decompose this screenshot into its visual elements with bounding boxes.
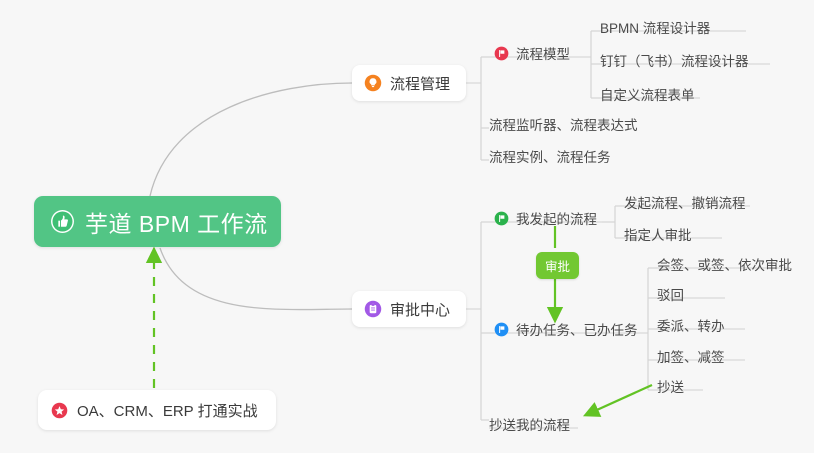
node-start-cancel-process[interactable]: 发起流程、撤销流程 bbox=[624, 192, 746, 212]
node-custom-process-form-label: 自定义流程表单 bbox=[600, 84, 695, 104]
root-label: 芋道 BPM 工作流 bbox=[85, 205, 268, 239]
node-assignee-approval[interactable]: 指定人审批 bbox=[624, 224, 692, 244]
arrow-cc-to-mine bbox=[588, 385, 652, 414]
lightbulb-pin-icon bbox=[364, 74, 382, 92]
node-reject-label: 驳回 bbox=[657, 284, 684, 304]
flag-red-icon bbox=[494, 46, 509, 61]
footer-card-label: OA、CRM、ERP 打通实战 bbox=[77, 400, 258, 421]
node-cc-to-me-label: 抄送我的流程 bbox=[489, 414, 570, 434]
node-my-initiated[interactable]: 我发起的流程 bbox=[494, 208, 597, 228]
node-bpmn-designer-label: BPMN 流程设计器 bbox=[600, 17, 710, 37]
approval-annotation-chip: 审批 bbox=[536, 252, 579, 279]
thumbs-up-icon bbox=[50, 209, 75, 234]
branch-process-management[interactable]: 流程管理 bbox=[352, 65, 466, 101]
clipboard-purple-icon bbox=[364, 300, 382, 318]
node-todo-done-tasks-label: 待办任务、已办任务 bbox=[516, 319, 638, 339]
node-custom-process-form[interactable]: 自定义流程表单 bbox=[600, 84, 695, 104]
node-countersign[interactable]: 会签、或签、依次审批 bbox=[657, 254, 792, 274]
node-reject[interactable]: 驳回 bbox=[657, 284, 684, 304]
node-add-remove-sign[interactable]: 加签、减签 bbox=[657, 346, 725, 366]
node-countersign-label: 会签、或签、依次审批 bbox=[657, 254, 792, 274]
node-dingtalk-feishu-designer[interactable]: 钉钉（飞书）流程设计器 bbox=[600, 50, 749, 70]
node-process-model[interactable]: 流程模型 bbox=[494, 43, 570, 63]
node-process-model-label: 流程模型 bbox=[516, 43, 570, 63]
node-instance-task[interactable]: 流程实例、流程任务 bbox=[489, 146, 611, 166]
mindmap-canvas: 芋道 BPM 工作流 流程管理 流程模型 BPMN 流程设计器 钉钉（飞书）流程… bbox=[0, 0, 814, 453]
node-start-cancel-process-label: 发起流程、撤销流程 bbox=[624, 192, 746, 212]
branch-approval-center-label: 审批中心 bbox=[390, 299, 450, 320]
approval-annotation-chip-label: 审批 bbox=[545, 260, 570, 274]
root-node[interactable]: 芋道 BPM 工作流 bbox=[34, 196, 281, 247]
node-add-remove-sign-label: 加签、减签 bbox=[657, 346, 725, 366]
node-dingtalk-feishu-designer-label: 钉钉（飞书）流程设计器 bbox=[600, 50, 749, 70]
node-assignee-approval-label: 指定人审批 bbox=[624, 224, 692, 244]
node-cc-label: 抄送 bbox=[657, 376, 684, 396]
node-listener-expression[interactable]: 流程监听器、流程表达式 bbox=[489, 114, 638, 134]
flag-blue-icon bbox=[494, 322, 509, 337]
star-red-icon bbox=[51, 402, 68, 419]
node-instance-task-label: 流程实例、流程任务 bbox=[489, 146, 611, 166]
node-delegate-transfer-label: 委派、转办 bbox=[657, 315, 725, 335]
node-cc[interactable]: 抄送 bbox=[657, 376, 684, 396]
link-root-to-approval bbox=[160, 248, 352, 310]
node-my-initiated-label: 我发起的流程 bbox=[516, 208, 597, 228]
node-cc-to-me[interactable]: 抄送我的流程 bbox=[489, 414, 570, 434]
branch-approval-center[interactable]: 审批中心 bbox=[352, 291, 466, 327]
node-todo-done-tasks[interactable]: 待办任务、已办任务 bbox=[494, 319, 638, 339]
node-bpmn-designer[interactable]: BPMN 流程设计器 bbox=[600, 17, 710, 37]
flag-green-icon bbox=[494, 211, 509, 226]
branch-process-management-label: 流程管理 bbox=[390, 73, 450, 94]
footer-card-oa-crm-erp[interactable]: OA、CRM、ERP 打通实战 bbox=[38, 390, 276, 430]
node-listener-expression-label: 流程监听器、流程表达式 bbox=[489, 114, 638, 134]
link-root-to-process bbox=[150, 83, 352, 196]
node-delegate-transfer[interactable]: 委派、转办 bbox=[657, 315, 725, 335]
